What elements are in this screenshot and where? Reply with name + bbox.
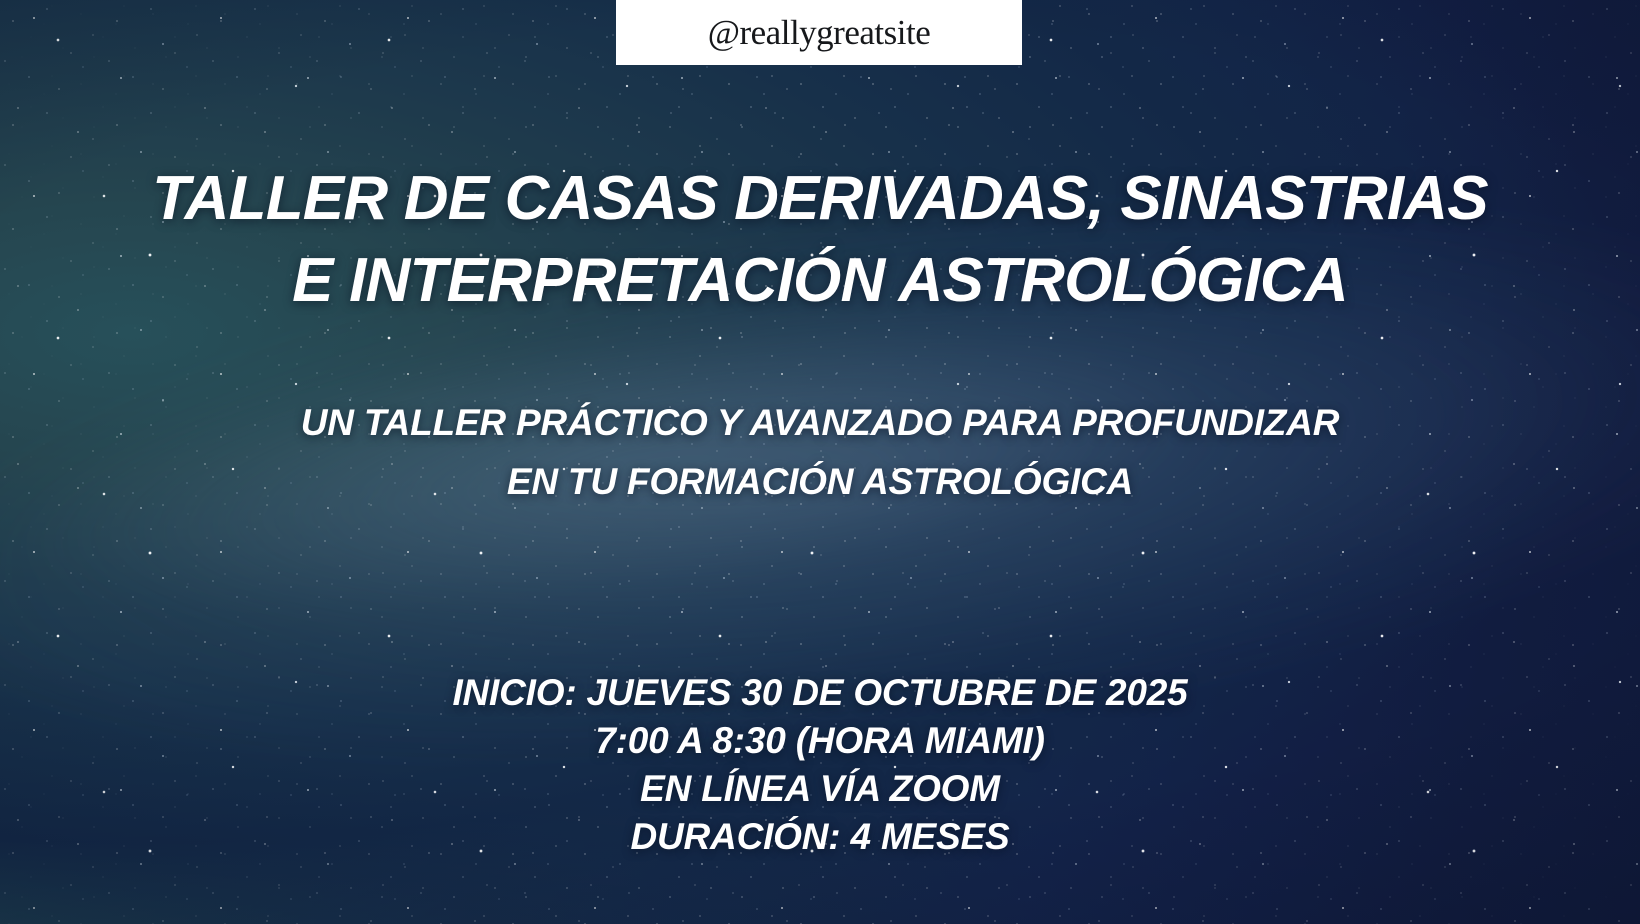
subtitle-line-1: UN TALLER PRÁCTICO Y AVANZADO PARA PROFU… <box>0 393 1640 452</box>
subtitle: UN TALLER PRÁCTICO Y AVANZADO PARA PROFU… <box>0 393 1640 511</box>
poster-canvas: @reallygreatsite TALLER DE CASAS DERIVAD… <box>0 0 1640 924</box>
handle-banner: @reallygreatsite <box>616 0 1022 65</box>
event-details: INICIO: JUEVES 30 DE OCTUBRE DE 2025 7:0… <box>0 669 1640 861</box>
handle-text: @reallygreatsite <box>708 15 930 50</box>
subtitle-line-2: EN TU FORMACIÓN ASTROLÓGICA <box>0 452 1640 511</box>
poster-content: TALLER DE CASAS DERIVADAS, SINASTRIAS E … <box>0 0 1640 924</box>
page-title: TALLER DE CASAS DERIVADAS, SINASTRIAS E … <box>0 158 1640 323</box>
event-start-date: INICIO: JUEVES 30 DE OCTUBRE DE 2025 <box>0 669 1640 717</box>
event-time: 7:00 A 8:30 (HORA MIAMI) <box>0 717 1640 765</box>
event-duration: DURACIÓN: 4 MESES <box>0 813 1640 861</box>
page-title-line-2: E INTERPRETACIÓN ASTROLÓGICA <box>34 240 1606 322</box>
page-title-line-1: TALLER DE CASAS DERIVADAS, SINASTRIAS <box>34 158 1606 240</box>
event-location: EN LÍNEA VÍA ZOOM <box>0 765 1640 813</box>
